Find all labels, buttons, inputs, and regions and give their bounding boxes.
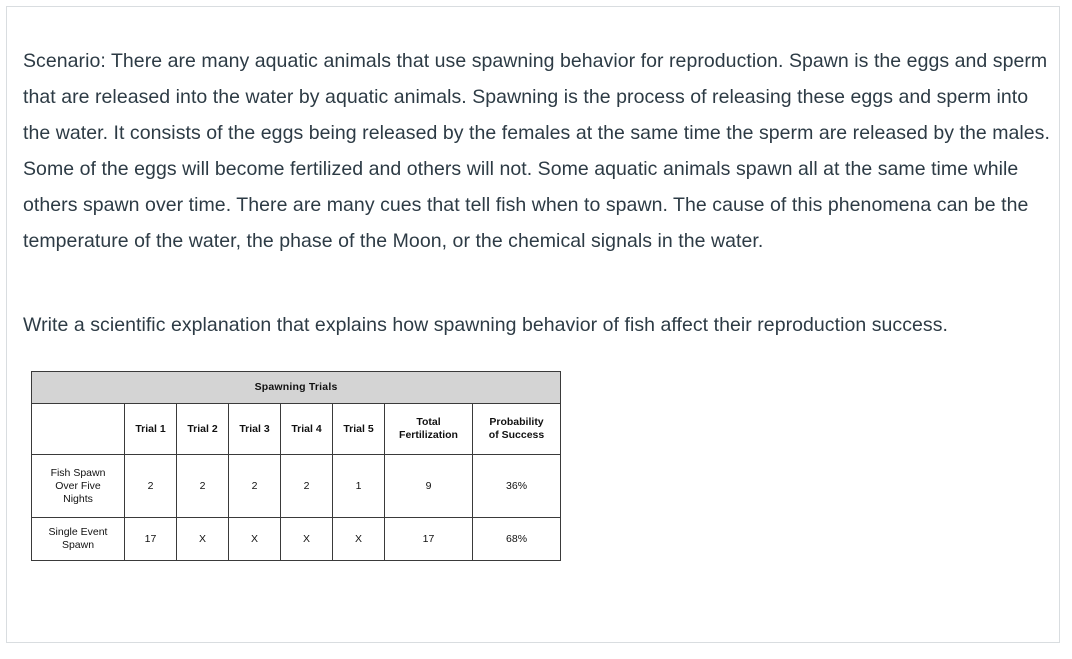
row-label-line-3: Nights [63,493,93,505]
cell-row1-total-fertilization: 9 [385,455,473,518]
table-row: Fish Spawn Over Five Nights 2 2 2 2 1 9 … [32,455,561,518]
cell-row1-trial3: 2 [229,455,281,518]
column-header-total-fertilization: Total Fertilization [385,404,473,455]
scenario-paragraph: Scenario: There are many aquatic animals… [23,43,1053,259]
cell-row2-trial2: X [177,518,229,561]
cell-row1-trial5: 1 [333,455,385,518]
cell-row2-trial5: X [333,518,385,561]
table-column-header-row: Trial 1 Trial 2 Trial 3 Trial 4 Trial 5 … [32,404,561,455]
cell-row2-trial1: 17 [125,518,177,561]
column-header-trial-5: Trial 5 [333,404,385,455]
table-row: Single Event Spawn 17 X X X X 17 68% [32,518,561,561]
row-label-line-1: Single Event [49,526,108,538]
question-content: Scenario: There are many aquatic animals… [23,43,1053,561]
total-fertilization-line-1: Total [416,416,440,428]
spawning-trials-table-wrapper: Spawning Trials Trial 1 Trial 2 Trial 3 … [31,371,1053,561]
table-banner-row: Spawning Trials [32,372,561,404]
cell-row2-trial3: X [229,518,281,561]
probability-of-success-line-1: Probability [489,416,543,428]
column-header-corner [32,404,125,455]
cell-row1-trial1: 2 [125,455,177,518]
prompt-paragraph: Write a scientific explanation that expl… [23,307,1053,343]
cell-row1-trial2: 2 [177,455,229,518]
row-label-line-2: Over Five [55,480,101,492]
table-title: Spawning Trials [32,372,561,404]
cell-row2-probability-of-success: 68% [473,518,561,561]
content-frame: Scenario: There are many aquatic animals… [6,6,1060,643]
row-label-line-2: Spawn [62,539,94,551]
column-header-trial-4: Trial 4 [281,404,333,455]
row-label-single-event-spawn: Single Event Spawn [32,518,125,561]
spawning-trials-table: Spawning Trials Trial 1 Trial 2 Trial 3 … [31,371,561,561]
column-header-trial-3: Trial 3 [229,404,281,455]
column-header-trial-1: Trial 1 [125,404,177,455]
total-fertilization-line-2: Fertilization [399,429,458,441]
cell-row2-trial4: X [281,518,333,561]
cell-row1-trial4: 2 [281,455,333,518]
row-label-line-1: Fish Spawn [51,467,106,479]
column-header-probability-of-success: Probability of Success [473,404,561,455]
column-header-trial-2: Trial 2 [177,404,229,455]
row-label-fish-spawn-over-five-nights: Fish Spawn Over Five Nights [32,455,125,518]
probability-of-success-line-2: of Success [489,429,544,441]
cell-row2-total-fertilization: 17 [385,518,473,561]
cell-row1-probability-of-success: 36% [473,455,561,518]
